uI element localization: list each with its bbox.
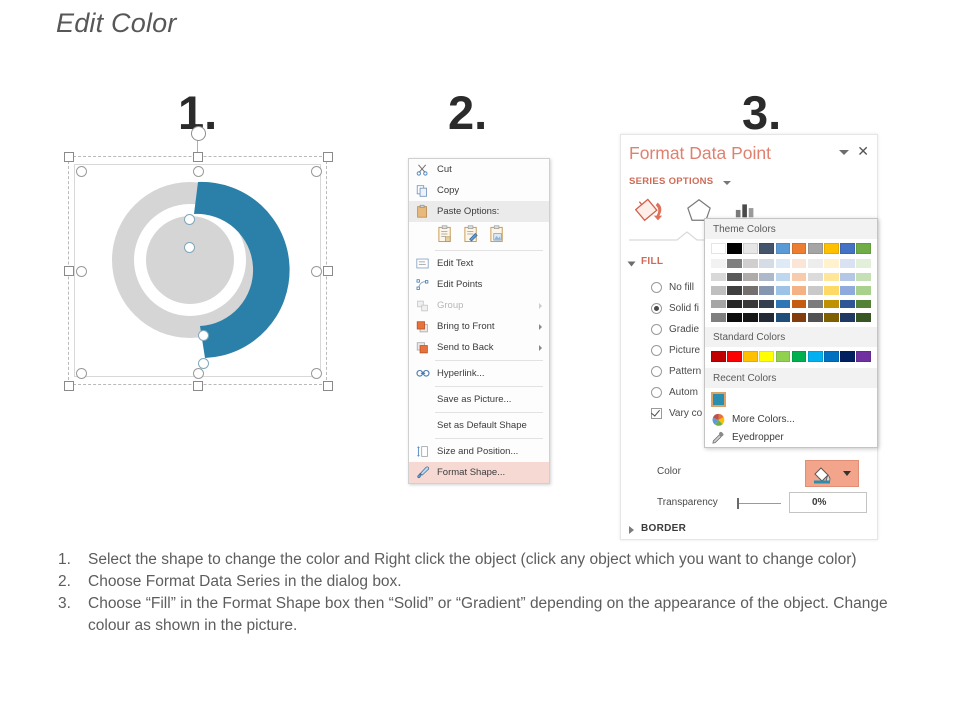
scissors-icon (415, 162, 430, 177)
resize-handle-middle-right[interactable] (323, 266, 333, 276)
instruction-number: 2. (52, 571, 88, 592)
donut-chart[interactable] (112, 182, 292, 362)
menu-item-label: Hyperlink... (437, 368, 485, 379)
fill-option-label: Gradie (669, 324, 699, 335)
theme-shade-swatch-4-7[interactable] (824, 313, 839, 322)
panel-selected-shape (60, 148, 335, 393)
step-number-2: 2. (448, 89, 487, 136)
standard-colors-row[interactable] (705, 347, 877, 368)
page-title: Edit Color (56, 8, 177, 39)
theme-color-swatch-5[interactable] (792, 243, 807, 254)
menu-item-set-as-default-shape[interactable]: Set as Default Shape (409, 415, 549, 436)
more-colors-item[interactable]: More Colors... (705, 411, 877, 429)
slide-canvas: Edit Color 1. 2. 3. (0, 0, 960, 720)
fill-option-no-fill[interactable]: No fill (651, 277, 702, 298)
theme-shade-swatch-0-5[interactable] (792, 259, 807, 268)
resize-handle-top-center[interactable] (193, 152, 203, 162)
theme-shade-swatch-2-2[interactable] (743, 286, 758, 295)
paste-keep-source-formatting-icon[interactable] (437, 225, 454, 243)
resize-handle-bottom-left[interactable] (64, 381, 74, 391)
inner-handle-middle-left[interactable] (76, 266, 87, 277)
series-options-chevron-icon[interactable] (723, 181, 731, 185)
menu-item-label: Size and Position... (437, 446, 518, 457)
theme-colors-header: Theme Colors (705, 219, 877, 239)
menu-item-label: Copy (437, 185, 459, 196)
theme-shade-swatch-0-2[interactable] (743, 259, 758, 268)
fill-option-label: Pattern (669, 366, 701, 377)
send-to-back-icon (415, 340, 430, 355)
recent-color-swatch-0[interactable] (711, 392, 726, 407)
theme-shade-swatch-4-4[interactable] (776, 313, 791, 322)
resize-handle-middle-left[interactable] (64, 266, 74, 276)
menu-item-edit-text[interactable]: Edit Text (409, 253, 549, 274)
menu-item-bring-to-front[interactable]: Bring to Front (409, 316, 549, 337)
standard-color-swatch-5[interactable] (792, 351, 807, 362)
fill-color-button[interactable] (805, 460, 859, 487)
edit-text-icon (415, 256, 430, 271)
inner-handle-middle-right[interactable] (311, 266, 322, 277)
transparency-label: Transparency (657, 497, 718, 508)
recent-colors-row[interactable] (705, 388, 877, 411)
paint-bucket-icon[interactable] (635, 197, 667, 228)
theme-shade-swatch-0-1[interactable] (727, 259, 742, 268)
menu-item-format-shape[interactable]: Format Shape... (409, 462, 549, 483)
menu-item-label: Bring to Front (437, 321, 495, 332)
theme-shade-swatch-0-4[interactable] (776, 259, 791, 268)
theme-shade-swatch-4-3[interactable] (759, 313, 774, 322)
radio-icon[interactable] (651, 387, 662, 398)
instruction-text: Select the shape to change the color and… (88, 549, 912, 570)
theme-shade-row-4[interactable] (705, 313, 877, 327)
fill-option-label: Autom (669, 387, 698, 398)
fill-option-solid-fill[interactable]: Solid fi (651, 298, 702, 319)
theme-shade-swatch-4-5[interactable] (792, 313, 807, 322)
hyperlink-icon (415, 366, 430, 381)
theme-shade-swatch-1-7[interactable] (824, 273, 839, 282)
standard-colors-header: Standard Colors (705, 327, 877, 347)
theme-shade-swatch-3-8[interactable] (840, 300, 855, 309)
standard-color-swatch-2[interactable] (743, 351, 758, 362)
size-position-icon (415, 444, 430, 459)
theme-shade-swatch-4-1[interactable] (727, 313, 742, 322)
theme-shade-swatch-2-3[interactable] (759, 286, 774, 295)
arc-adjust-handle-bottom[interactable] (198, 358, 209, 369)
paste-use-destination-theme-icon[interactable] (463, 225, 480, 243)
chevron-down-icon[interactable] (839, 150, 849, 155)
standard-color-swatch-4[interactable] (776, 351, 791, 362)
radio-icon[interactable] (651, 324, 662, 335)
eyedropper-label: Eyedropper (732, 432, 784, 443)
fill-option-pattern-fill[interactable]: Pattern (651, 361, 702, 382)
theme-shade-swatch-1-0[interactable] (711, 273, 726, 282)
theme-shade-swatch-2-5[interactable] (792, 286, 807, 295)
fill-option-gradient-fill[interactable]: Gradie (651, 319, 702, 340)
inner-handle-top-right[interactable] (311, 166, 322, 177)
theme-shade-swatch-2-9[interactable] (856, 286, 871, 295)
standard-color-swatch-7[interactable] (824, 351, 839, 362)
theme-shade-swatch-2-7[interactable] (824, 286, 839, 295)
radio-icon[interactable] (651, 366, 662, 377)
standard-color-swatch-8[interactable] (840, 351, 855, 362)
vary-colors-label: Vary co (669, 408, 702, 419)
fill-options-list[interactable]: No fill Solid fi Gradie Picture Pattern … (651, 277, 702, 424)
series-options-label[interactable]: SERIES OPTIONS (629, 176, 713, 187)
step-number-3: 3. (742, 89, 781, 136)
fill-section-header[interactable]: FILL (641, 256, 663, 267)
standard-color-swatch-9[interactable] (856, 351, 871, 362)
paste-picture-icon[interactable] (489, 225, 506, 243)
resize-handle-bottom-right[interactable] (323, 381, 333, 391)
donut-blue-arc-segment[interactable] (120, 170, 300, 370)
transparency-slider-track[interactable] (739, 503, 781, 504)
theme-shade-swatch-4-0[interactable] (711, 313, 726, 322)
instruction-text: Choose “Fill” in the Format Shape box th… (88, 593, 912, 635)
border-section-toggle-icon[interactable] (629, 526, 634, 534)
theme-color-swatch-4[interactable] (776, 243, 791, 254)
menu-item-save-as-picture[interactable]: Save as Picture... (409, 389, 549, 410)
arc-adjust-handle-top[interactable] (184, 214, 195, 225)
menu-separator (435, 250, 543, 251)
transparency-value-input[interactable]: 0% (789, 492, 867, 513)
theme-shade-swatch-0-8[interactable] (840, 259, 855, 268)
menu-item-size-and-position[interactable]: Size and Position... (409, 441, 549, 462)
theme-shade-swatch-2-6[interactable] (808, 286, 823, 295)
resize-handle-top-left[interactable] (64, 152, 74, 162)
menu-item-group: Group (409, 295, 549, 316)
color-label: Color (657, 466, 681, 477)
theme-color-swatch-6[interactable] (808, 243, 823, 254)
menu-item-label: Group (437, 300, 463, 311)
instruction-item-2: 2. Choose Format Data Series in the dial… (52, 571, 912, 592)
theme-shade-swatch-3-3[interactable] (759, 300, 774, 309)
fill-option-picture-fill[interactable]: Picture (651, 340, 702, 361)
theme-shade-swatch-4-6[interactable] (808, 313, 823, 322)
transparency-setting-row: Transparency 0% (657, 492, 872, 514)
theme-shade-swatch-1-3[interactable] (759, 273, 774, 282)
menu-item-label: Edit Points (437, 279, 482, 290)
theme-shade-swatch-3-1[interactable] (727, 300, 742, 309)
eyedropper-item[interactable]: Eyedropper (705, 429, 877, 447)
theme-shade-swatch-0-7[interactable] (824, 259, 839, 268)
theme-color-swatch-3[interactable] (759, 243, 774, 254)
theme-shade-swatch-3-4[interactable] (776, 300, 791, 309)
menu-item-label: Paste Options: (437, 206, 499, 217)
paste-options-row[interactable] (409, 222, 549, 248)
theme-color-swatch-2[interactable] (743, 243, 758, 254)
theme-shade-swatch-3-0[interactable] (711, 300, 726, 309)
theme-shade-swatch-0-3[interactable] (759, 259, 774, 268)
copy-icon (415, 183, 430, 198)
fill-option-label: No fill (669, 282, 694, 293)
theme-color-swatch-8[interactable] (840, 243, 855, 254)
menu-separator (435, 360, 543, 361)
radio-icon[interactable] (651, 345, 662, 356)
theme-colors-shade-rows[interactable] (705, 259, 877, 327)
menu-item-copy[interactable]: Copy (409, 180, 549, 201)
instruction-text: Choose Format Data Series in the dialog … (88, 571, 912, 592)
theme-shade-row-2[interactable] (705, 286, 877, 300)
fill-option-label: Solid fi (669, 303, 699, 314)
context-menu[interactable]: Cut Copy Paste Options: (408, 158, 550, 484)
theme-shade-swatch-1-6[interactable] (808, 273, 823, 282)
vary-colors-checkbox-row[interactable]: Vary co (651, 403, 702, 424)
menu-separator (435, 438, 543, 439)
paint-bucket-fill-icon (812, 466, 830, 482)
clipboard-icon (415, 204, 430, 219)
theme-shade-swatch-1-2[interactable] (743, 273, 758, 282)
menu-item-hyperlink[interactable]: Hyperlink... (409, 363, 549, 384)
theme-shade-swatch-1-5[interactable] (792, 273, 807, 282)
theme-shade-swatch-3-6[interactable] (808, 300, 823, 309)
submenu-arrow-icon (539, 324, 542, 330)
menu-item-label: Set as Default Shape (437, 420, 527, 431)
instruction-item-3: 3. Choose “Fill” in the Format Shape box… (52, 593, 912, 635)
arc-adjust-handle-bottom-inner[interactable] (198, 330, 209, 341)
menu-item-label: Cut (437, 164, 452, 175)
theme-shade-swatch-0-6[interactable] (808, 259, 823, 268)
theme-color-swatch-0[interactable] (711, 243, 726, 254)
theme-shade-swatch-2-1[interactable] (727, 286, 742, 295)
transparency-slider-knob[interactable] (737, 498, 739, 509)
menu-item-edit-points[interactable]: Edit Points (409, 274, 549, 295)
menu-item-cut[interactable]: Cut (409, 159, 549, 180)
inner-handle-bottom-right[interactable] (311, 368, 322, 379)
submenu-arrow-icon (539, 303, 542, 309)
instruction-number: 1. (52, 549, 88, 570)
close-icon[interactable]: ✕ (857, 144, 869, 158)
pane-title: Format Data Point (629, 143, 771, 164)
instruction-number: 3. (52, 593, 88, 635)
instruction-item-1: 1. Select the shape to change the color … (52, 549, 912, 570)
menu-item-paste-options: Paste Options: (409, 201, 549, 222)
format-shape-icon (415, 465, 430, 480)
menu-item-label: Save as Picture... (437, 394, 511, 405)
color-setting-row: Color (657, 460, 867, 486)
color-dropdown-caret-icon[interactable] (843, 471, 851, 476)
theme-shade-swatch-1-1[interactable] (727, 273, 742, 282)
theme-shade-swatch-0-9[interactable] (856, 259, 871, 268)
more-colors-label: More Colors... (732, 414, 795, 425)
theme-shade-swatch-3-7[interactable] (824, 300, 839, 309)
theme-shade-row-1[interactable] (705, 273, 877, 287)
theme-shade-swatch-1-8[interactable] (840, 273, 855, 282)
theme-shade-swatch-4-8[interactable] (840, 313, 855, 322)
theme-shade-swatch-2-4[interactable] (776, 286, 791, 295)
theme-shade-swatch-0-0[interactable] (711, 259, 726, 268)
theme-color-swatch-1[interactable] (727, 243, 742, 254)
menu-item-label: Edit Text (437, 258, 473, 269)
menu-item-label: Send to Back (437, 342, 494, 353)
arc-adjust-handle-top-inner[interactable] (184, 242, 195, 253)
menu-item-send-to-back[interactable]: Send to Back (409, 337, 549, 358)
recent-colors-header: Recent Colors (705, 368, 877, 388)
theme-shade-swatch-2-0[interactable] (711, 286, 726, 295)
theme-shade-swatch-4-9[interactable] (856, 313, 871, 322)
color-wheel-icon (711, 413, 726, 427)
fill-option-label: Picture (669, 345, 700, 356)
fill-option-automatic[interactable]: Autom (651, 382, 702, 403)
rotation-handle[interactable] (191, 126, 206, 141)
menu-separator (435, 412, 543, 413)
theme-shade-swatch-2-8[interactable] (840, 286, 855, 295)
group-icon (415, 298, 430, 313)
edit-points-icon (415, 277, 430, 292)
color-picker-dropdown[interactable]: Theme Colors Standard Colors Recent Colo… (704, 218, 878, 448)
standard-color-swatch-3[interactable] (759, 351, 774, 362)
theme-shade-swatch-3-9[interactable] (856, 300, 871, 309)
theme-shade-swatch-4-2[interactable] (743, 313, 758, 322)
standard-color-swatch-1[interactable] (727, 351, 742, 362)
radio-icon-selected[interactable] (651, 303, 662, 314)
resize-handle-top-right[interactable] (323, 152, 333, 162)
theme-shade-row-3[interactable] (705, 300, 877, 314)
radio-icon[interactable] (651, 282, 662, 293)
bring-to-front-icon (415, 319, 430, 334)
theme-color-swatch-9[interactable] (856, 243, 871, 254)
checkbox-icon-checked[interactable] (651, 408, 662, 419)
theme-shade-swatch-3-5[interactable] (792, 300, 807, 309)
submenu-arrow-icon (539, 345, 542, 351)
inner-handle-bottom-left[interactable] (76, 368, 87, 379)
theme-shade-swatch-1-4[interactable] (776, 273, 791, 282)
resize-handle-bottom-center[interactable] (193, 381, 203, 391)
theme-shade-swatch-1-9[interactable] (856, 273, 871, 282)
border-section-header[interactable]: BORDER (641, 523, 686, 534)
fill-section-toggle-icon[interactable] (628, 262, 636, 267)
theme-shade-row-0[interactable] (705, 259, 877, 273)
theme-color-swatch-7[interactable] (824, 243, 839, 254)
theme-shade-swatch-3-2[interactable] (743, 300, 758, 309)
standard-color-swatch-6[interactable] (808, 351, 823, 362)
theme-colors-base-row[interactable] (705, 239, 877, 259)
standard-color-swatch-0[interactable] (711, 351, 726, 362)
menu-item-label: Format Shape... (437, 467, 505, 478)
menu-separator (435, 386, 543, 387)
inner-handle-top-left[interactable] (76, 166, 87, 177)
instructions-list: 1. Select the shape to change the color … (52, 549, 912, 637)
eyedropper-icon (711, 431, 726, 445)
